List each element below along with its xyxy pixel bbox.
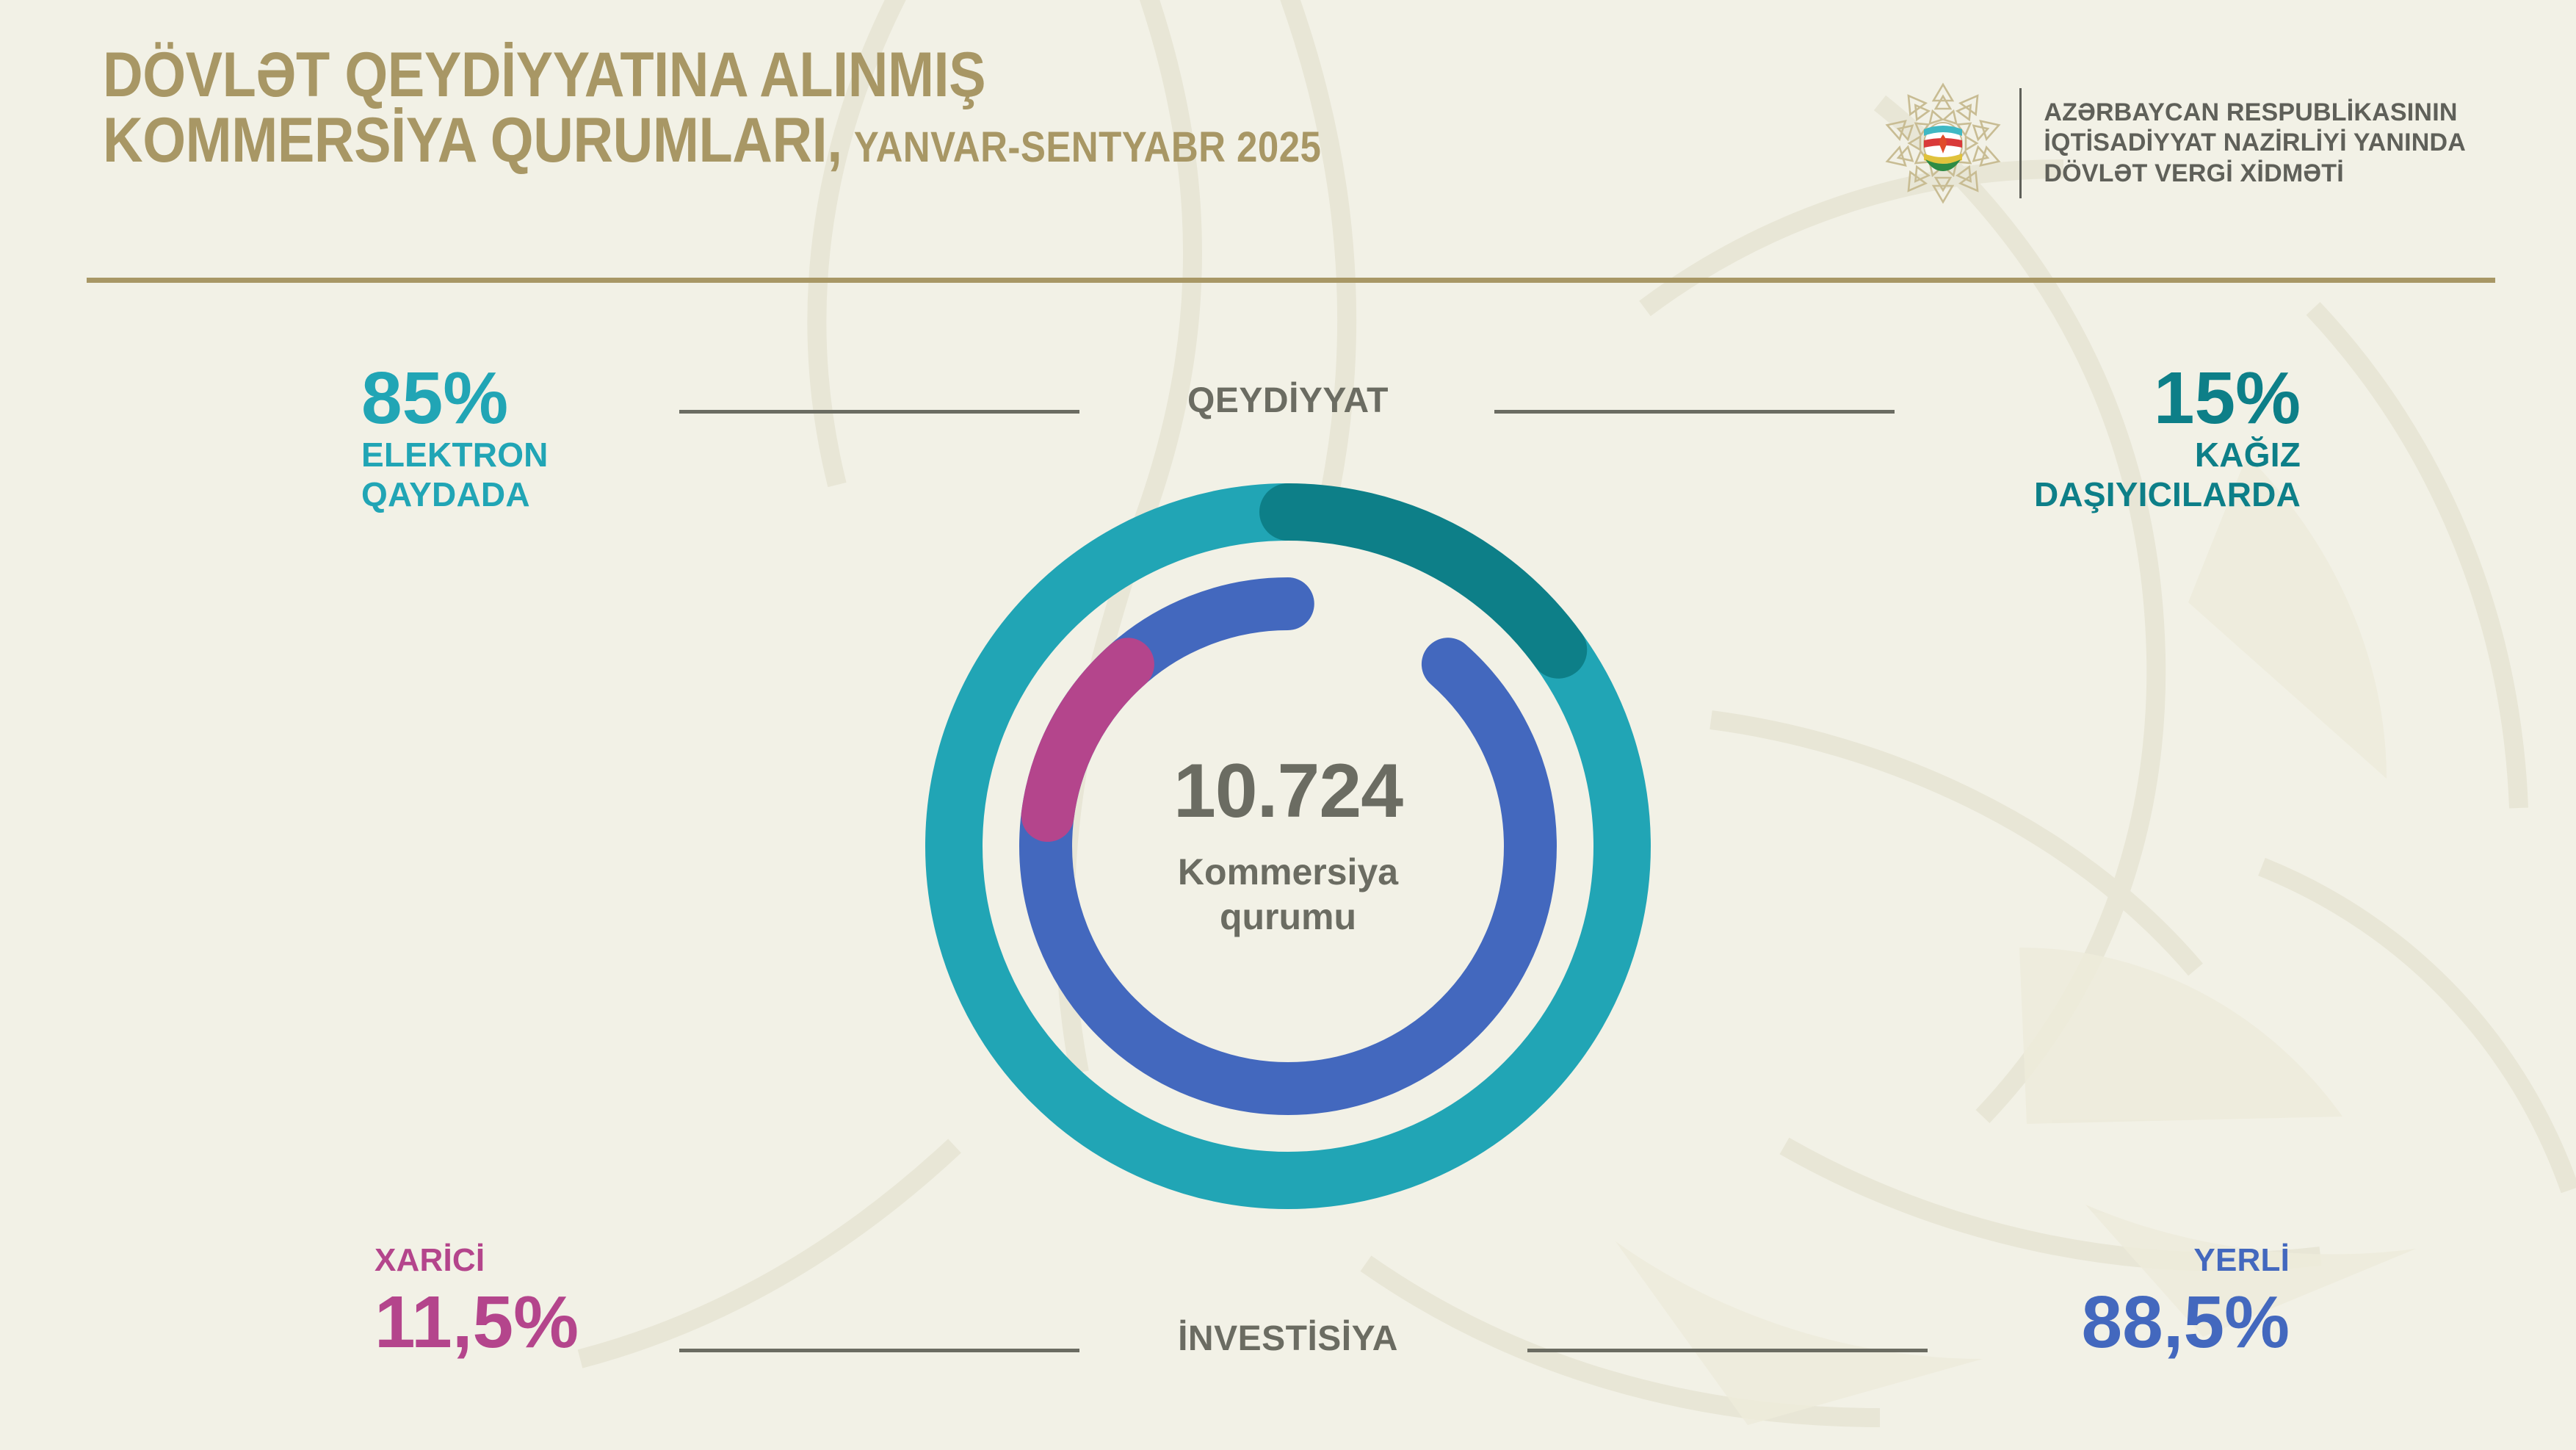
infographic-canvas: DÖVLƏT QEYDİYYATINA ALINMIŞ KOMMERSİYA Q… [0,0,2576,1450]
stat-local-percentage: 88,5% [2081,1285,2290,1359]
stat-local-label: YERLİ [2081,1241,2290,1280]
stat-electronic-registration: 85% ELEKTRON QAYDADA [361,361,549,515]
title-line-2: KOMMERSİYA QURUMLARI, YANVAR-SENTYABR 20… [103,108,1524,173]
stat-foreign-percentage: 11,5% [375,1285,579,1359]
caption-investment: İNVESTİSİYA [1178,1319,1398,1359]
stat-electronic-label-line-1: ELEKTRON [361,435,549,475]
stat-paper-label-line-2: DAŞIYICILARDA [2034,475,2301,514]
stat-local-investment: YERLİ 88,5% [2081,1241,2290,1359]
stat-paper-percentage: 15% [2034,361,2301,435]
logo-line-3: DÖVLƏT VERGİ XİDMƏTİ [2044,159,2466,189]
stat-electronic-percentage: 85% [361,361,549,435]
stat-paper-label-line-1: KAĞIZ [2034,435,2301,475]
header: DÖVLƏT QEYDİYYATINA ALINMIŞ KOMMERSİYA Q… [0,0,2576,294]
stat-paper-registration: 15% KAĞIZ DAŞIYICILARDA [2034,361,2301,515]
organization-logo: AZƏRBAYCAN RESPUBLİKASININ İQTİSADİYYAT … [1877,77,2466,209]
connector-line-bottom-right [1527,1349,1928,1352]
donut-chart: 10.724 Kommersiya qurumu [899,457,1677,1236]
connector-line-bottom-left [679,1349,1079,1352]
logo-divider [2019,88,2022,198]
logo-line-1: AZƏRBAYCAN RESPUBLİKASININ [2044,98,2466,128]
organization-name: AZƏRBAYCAN RESPUBLİKASININ İQTİSADİYYAT … [2044,98,2466,189]
donut-chart-svg [899,457,1677,1236]
title-main-text: KOMMERSİYA QURUMLARI, [103,108,842,173]
stat-foreign-investment: XARİCİ 11,5% [375,1241,579,1359]
caption-registration: QEYDİYYAT [1187,380,1389,421]
title-line-1: DÖVLƏT QEYDİYYATINA ALINMIŞ [103,43,1524,108]
header-divider-rule [87,278,2495,283]
page-title: DÖVLƏT QEYDİYYATINA ALINMIŞ KOMMERSİYA Q… [103,43,1718,173]
stat-foreign-label: XARİCİ [375,1241,579,1280]
stat-electronic-label-line-2: QAYDADA [361,475,549,514]
connector-line-top-left [679,410,1079,414]
logo-line-2: İQTİSADİYYAT NAZİRLİYİ YANINDA [2044,128,2466,158]
azerbaijan-state-tax-service-emblem-icon [1877,77,2009,209]
title-period-text: YANVAR-SENTYABR 2025 [854,126,1322,170]
connector-line-top-right [1494,410,1895,414]
